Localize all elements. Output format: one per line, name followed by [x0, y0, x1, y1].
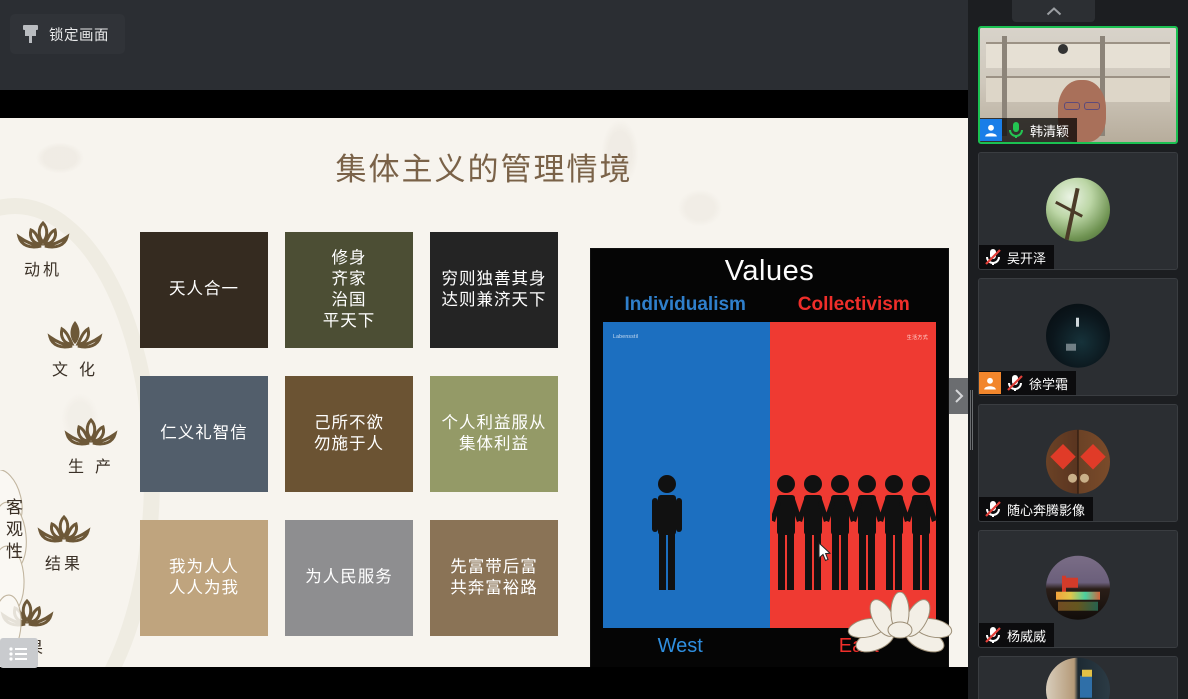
mic-muted-icon	[983, 247, 1003, 267]
rail-item-2: 生 产	[46, 415, 136, 477]
participant-namebar: 徐学霜	[979, 371, 1076, 395]
participant-tile[interactable]: 杨威威	[978, 530, 1178, 648]
share-toolbar: 锁定画面	[0, 0, 968, 90]
grid-cell: 我为人人 人人为我	[140, 520, 268, 636]
lotus-icon	[46, 318, 104, 354]
individualism-pane: Labensstil	[603, 322, 770, 628]
participant-tiles: 韩清颖 吴开泽	[968, 26, 1188, 699]
lotus-icon	[14, 218, 72, 254]
rail-label-0: 动机	[0, 256, 88, 280]
grid-cell: 先富带后富 共奔富裕路	[430, 520, 558, 636]
mic-on-icon	[1006, 120, 1026, 140]
collectivism-label: Collectivism	[770, 294, 939, 316]
collectivism-pane: 生活方式	[770, 322, 937, 628]
lotus-flower-icon	[845, 592, 955, 662]
avatar	[1046, 178, 1110, 242]
grid-cell: 修身 齐家 治国 平天下	[285, 232, 413, 348]
participant-tile[interactable]: 徐学霜	[978, 278, 1178, 396]
participant-tile[interactable]: 随心奔腾影像	[978, 404, 1178, 522]
grid-cell-text: 仁义礼智信	[160, 423, 248, 444]
avatar	[1046, 304, 1110, 368]
participant-name: 吴开泽	[1003, 248, 1046, 267]
mouse-cursor	[818, 542, 831, 562]
grid-cell-text: 穷则独善其身 达则兼济天下	[442, 269, 547, 311]
participant-name: 杨威威	[1003, 626, 1046, 645]
participant-tile[interactable]	[978, 656, 1178, 699]
participant-name: 徐学霜	[1025, 374, 1068, 393]
grid-cell: 穷则独善其身 达则兼济天下	[430, 232, 558, 348]
value-grid: 天人合一 修身 齐家 治国 平天下 穷则独善其身 达则兼济天下 仁义礼智信 己所…	[140, 232, 558, 636]
rail-item-1: 文 化	[30, 318, 120, 380]
avatar	[1046, 430, 1110, 494]
screen-share-meeting-window: 锁定画面 集体主义的管理情境 动机	[0, 0, 1188, 699]
letterbox-top	[0, 90, 968, 118]
participant-name: 韩清颖	[1026, 121, 1069, 140]
rail-label-1: 文 化	[30, 356, 120, 380]
self-avatar-icon	[980, 119, 1002, 141]
lock-screen-button[interactable]: 锁定画面	[10, 14, 125, 54]
participant-tile[interactable]: 吴开泽	[978, 152, 1178, 270]
values-panes: Labensstil 生活方式	[603, 322, 936, 628]
individualism-caption: Labensstil	[613, 334, 639, 340]
collapse-rail-button[interactable]	[1012, 0, 1095, 22]
chevron-right-icon	[954, 389, 964, 403]
objective-label: 客观性	[0, 498, 32, 563]
lotus-icon	[62, 415, 120, 451]
grid-cell: 天人合一	[140, 232, 268, 348]
lock-screen-label: 锁定画面	[49, 24, 109, 45]
people-group-figure	[772, 472, 938, 592]
grid-cell-text: 天人合一	[169, 279, 239, 300]
next-slide-button[interactable]	[949, 378, 968, 414]
participant-namebar: 随心奔腾影像	[979, 497, 1093, 521]
grid-cell-text: 己所不欲 勿施于人	[314, 413, 384, 455]
participant-namebar: 吴开泽	[979, 245, 1054, 269]
grid-cell: 己所不欲 勿施于人	[285, 376, 413, 492]
values-title: Values	[591, 249, 948, 288]
rail-scrollbar[interactable]	[970, 390, 974, 450]
mic-muted-icon	[983, 499, 1003, 519]
letterbox-bottom	[0, 667, 968, 699]
host-avatar-icon	[979, 372, 1001, 394]
participant-tile[interactable]: 韩清颖	[978, 26, 1178, 144]
participant-namebar: 杨威威	[979, 623, 1054, 647]
grid-cell-text: 先富带后富 共奔富裕路	[450, 557, 538, 599]
shared-screen-area: 锁定画面 集体主义的管理情境 动机	[0, 0, 968, 699]
person-figure	[651, 472, 683, 592]
west-label: West	[591, 635, 770, 658]
slide-title: 集体主义的管理情境	[0, 144, 968, 189]
grid-cell: 为人民服务	[285, 520, 413, 636]
chevron-up-icon	[1046, 7, 1062, 16]
participant-name: 随心奔腾影像	[1003, 500, 1085, 519]
participant-rail: 韩清颖 吴开泽	[968, 0, 1188, 699]
grid-cell-text: 修身 齐家 治国 平天下	[323, 248, 376, 332]
participant-namebar: 韩清颖	[980, 118, 1077, 142]
grid-cell: 个人利益服从 集体利益	[430, 376, 558, 492]
grid-cell-text: 我为人人 人人为我	[169, 557, 239, 599]
grid-cell: 仁义礼智信	[140, 376, 268, 492]
pin-icon	[22, 24, 39, 44]
individualism-label: Individualism	[601, 294, 770, 316]
mic-muted-icon	[1005, 373, 1025, 393]
grid-cell-text: 为人民服务	[305, 567, 393, 588]
presentation-slide: 集体主义的管理情境 动机	[0, 118, 968, 667]
avatar	[1046, 556, 1110, 620]
values-subtitles: Individualism Collectivism	[591, 288, 948, 320]
rail-item-0: 动机	[0, 218, 88, 280]
list-menu-icon[interactable]	[0, 638, 38, 668]
collectivism-caption: 生活方式	[907, 334, 928, 341]
grid-cell-text: 个人利益服从 集体利益	[442, 413, 547, 455]
mic-muted-icon	[983, 625, 1003, 645]
